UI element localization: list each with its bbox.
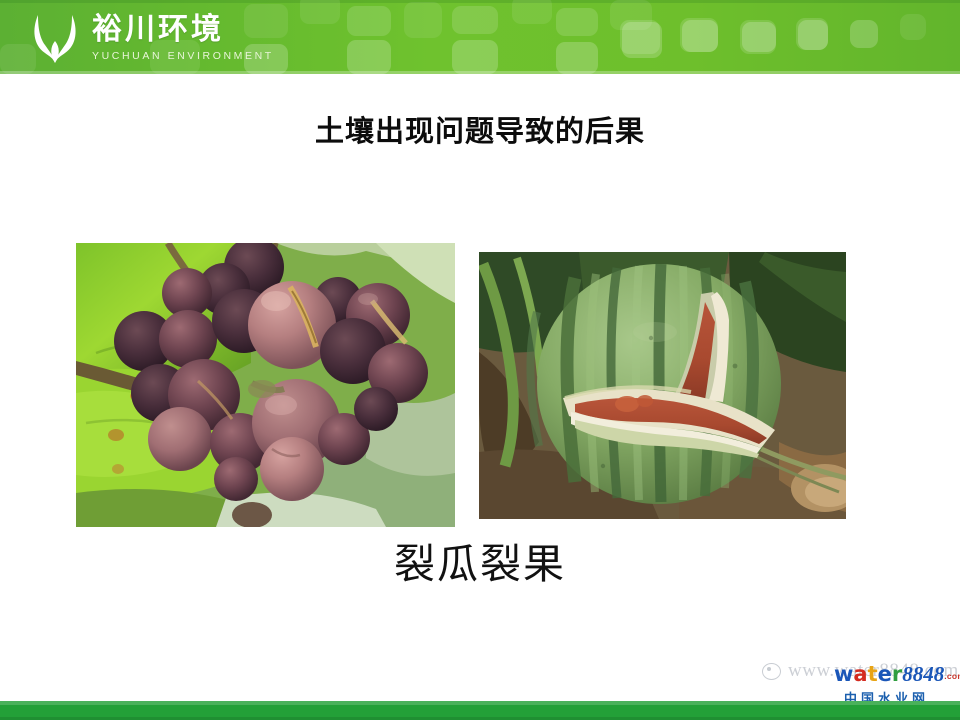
cracked-watermelon-photo	[479, 252, 846, 519]
header-bottom-edge	[0, 71, 960, 74]
brand-name-en: YUCHUAN ENVIRONMENT	[92, 49, 312, 63]
cracked-grapes-photo	[76, 243, 455, 527]
watermark-letter-a: a	[853, 662, 867, 686]
brand-name-cn: 裕川环境	[92, 13, 312, 47]
image-caption: 裂瓜裂果	[0, 538, 960, 590]
page-title: 土壤出现问题导致的后果	[0, 112, 960, 150]
watermark-dotcom: .com	[944, 671, 960, 681]
leaf-wings-logo-icon	[28, 11, 82, 65]
header-top-edge	[0, 0, 960, 3]
footer-bar-highlight	[0, 701, 960, 705]
watermark-letter-t: t	[868, 662, 878, 686]
header-banner: 裕川环境 YUCHUAN ENVIRONMENT	[0, 0, 960, 74]
footer-bar	[0, 701, 960, 720]
watermark-ghost-circle-icon	[762, 663, 781, 680]
watermark-letter-e: e	[878, 662, 892, 686]
watermark-number: 8848	[902, 662, 944, 686]
watermark-letter-r: r	[892, 662, 902, 686]
watermark-letter-w: w	[834, 662, 853, 686]
watermark-ghost-dot-icon	[767, 667, 771, 671]
brand-lockup: 裕川环境 YUCHUAN ENVIRONMENT	[92, 13, 312, 63]
watermark-wordmark: water8848.com	[834, 663, 960, 687]
